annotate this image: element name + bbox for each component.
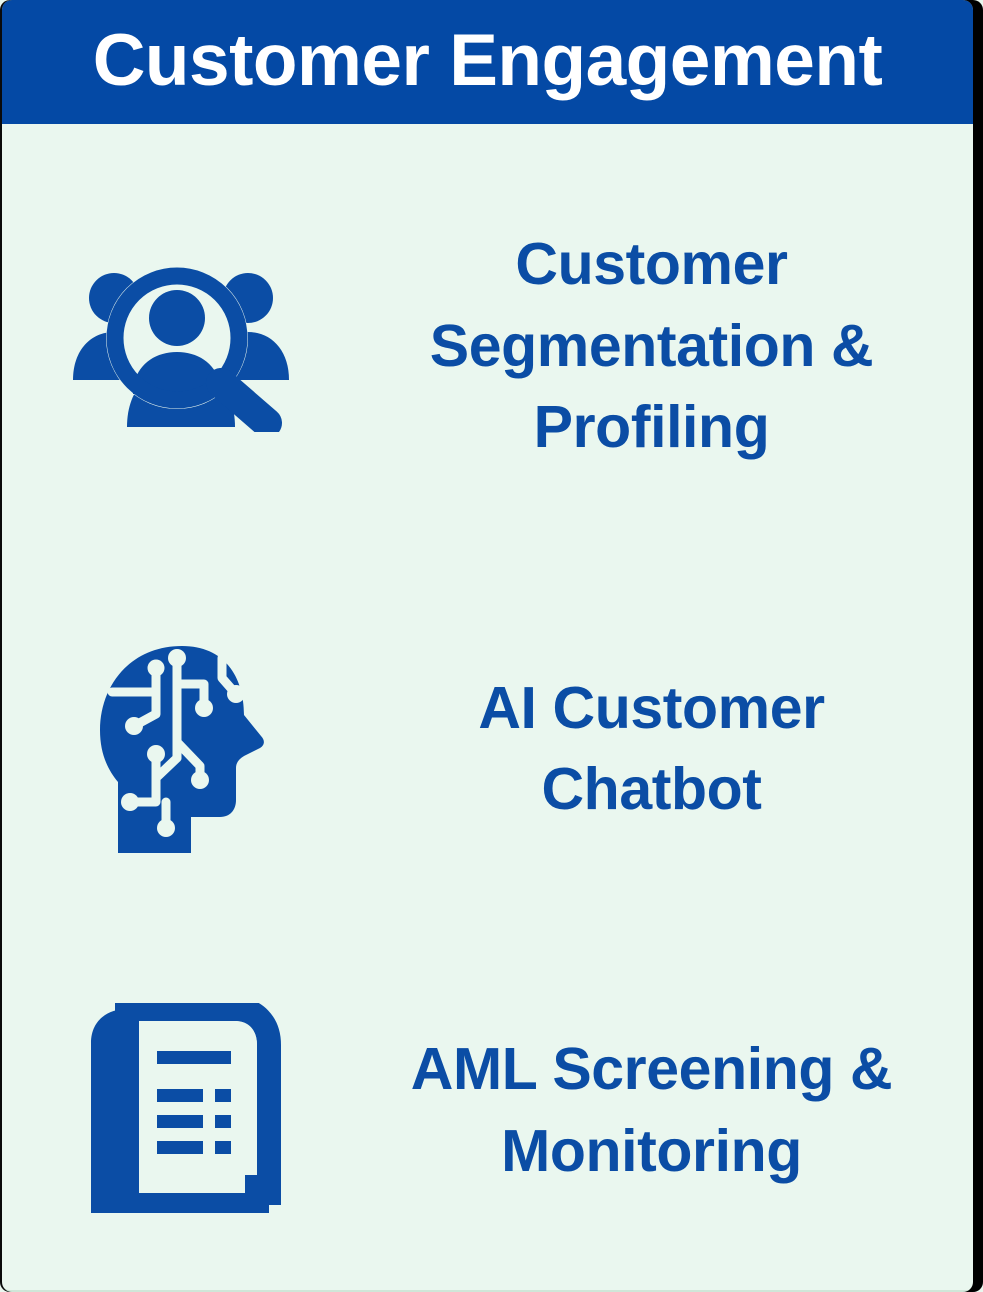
label-cell: AI Customer Chatbot xyxy=(360,668,973,831)
label-cell: Customer Segmentation & Profiling xyxy=(360,224,973,468)
list-item-label: AML Screening & Monitoring xyxy=(372,1029,932,1192)
list-item[interactable]: AML Screening & Monitoring xyxy=(2,929,973,1292)
document-receipt-icon xyxy=(79,1003,284,1218)
customer-segmentation-icon xyxy=(71,262,291,432)
list-item-label: AI Customer Chatbot xyxy=(437,668,867,831)
label-cell: AML Screening & Monitoring xyxy=(360,1029,973,1192)
list-item-label: Customer Segmentation & Profiling xyxy=(392,224,912,468)
card-header: Customer Engagement xyxy=(2,0,973,124)
icon-cell xyxy=(2,1003,360,1218)
page-title: Customer Engagement xyxy=(93,24,883,97)
icon-cell xyxy=(2,262,360,432)
feature-list: Customer Segmentation & Profiling xyxy=(2,124,973,1292)
icon-cell xyxy=(2,642,360,857)
list-item[interactable]: Customer Segmentation & Profiling xyxy=(2,124,973,569)
list-item[interactable]: AI Customer Chatbot xyxy=(2,569,973,929)
customer-engagement-card: Customer Engagement xyxy=(0,0,983,1292)
card-inner: Customer Engagement xyxy=(2,0,973,1292)
ai-head-circuit-icon xyxy=(94,642,269,857)
